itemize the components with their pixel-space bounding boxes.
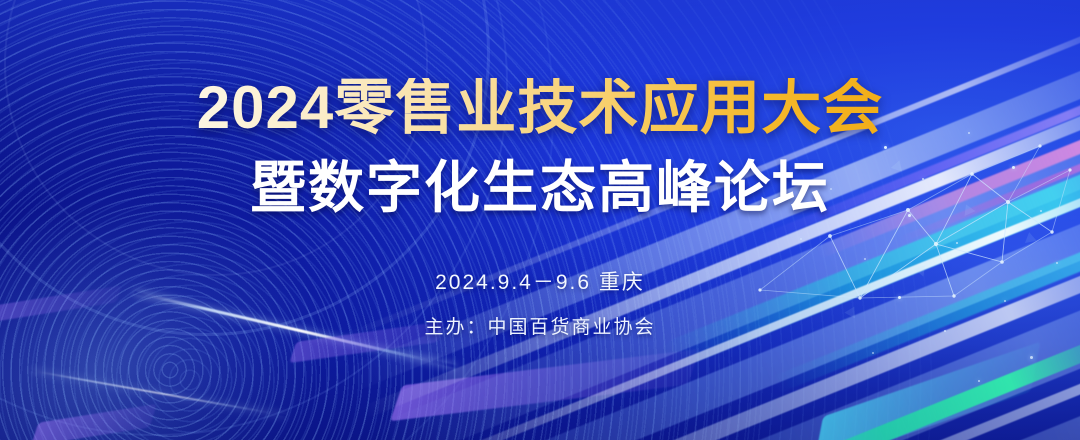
banner-text-block: 2024零售业技术应用大会 暨数字化生态高峰论坛 2024.9.4－9.6 重庆… — [0, 0, 1080, 440]
banner-date-location: 2024.9.4－9.6 重庆 — [435, 266, 645, 296]
banner-title-sub: 暨数字化生态高峰论坛 — [250, 160, 830, 216]
conference-banner: 2024零售业技术应用大会 暨数字化生态高峰论坛 2024.9.4－9.6 重庆… — [0, 0, 1080, 440]
banner-title-main: 2024零售业技术应用大会 — [197, 78, 883, 138]
banner-host-organization: 主办：中国百货商业协会 — [424, 312, 655, 339]
